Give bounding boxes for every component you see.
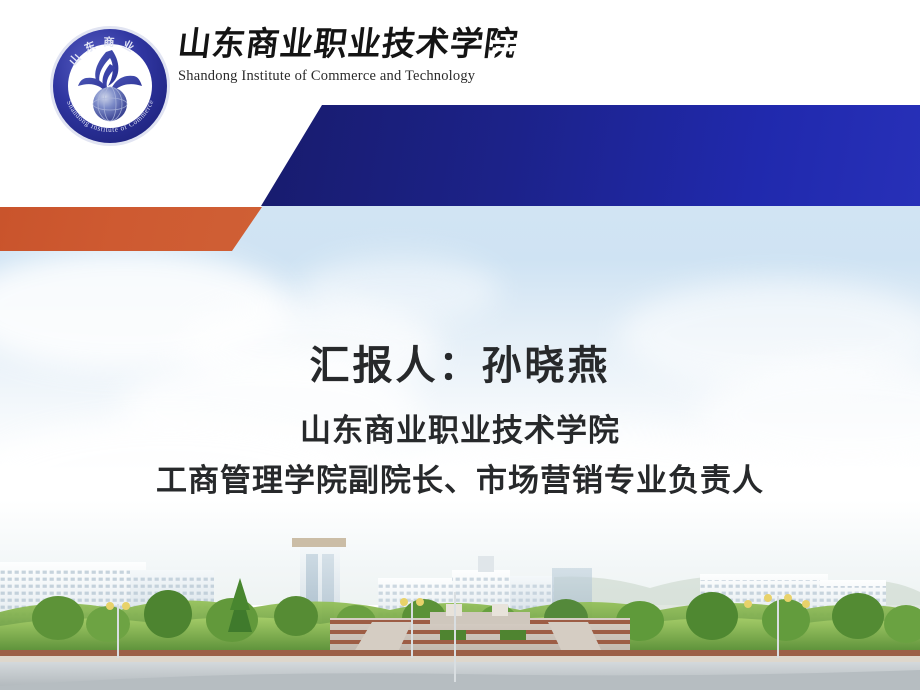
campus-panorama-photo	[0, 500, 920, 690]
cloud-shape	[300, 255, 500, 325]
presenter-line: 汇报人：孙晓燕	[0, 344, 920, 388]
organization-line-2: 工商管理学院副院长、市场营销专业负责人	[0, 464, 920, 500]
center-text-block: 汇报人：孙晓燕 山东商业职业技术学院 工商管理学院副院长、市场营销专业负责人	[0, 344, 920, 499]
school-name-cn: 山东商业职业技术学院	[176, 28, 510, 63]
presentation-slide: 山东商业 Shandong Institute of Commerce 山东商业…	[0, 0, 920, 690]
school-name-en: Shandong Institute of Commerce and Techn…	[178, 68, 508, 85]
school-crest-icon: 山东商业 Shandong Institute of Commerce	[48, 24, 172, 148]
school-name-block: 山东商业职业技术学院 Shandong Institute of Commerc…	[178, 28, 508, 85]
organization-line-1: 山东商业职业技术学院	[0, 414, 920, 450]
